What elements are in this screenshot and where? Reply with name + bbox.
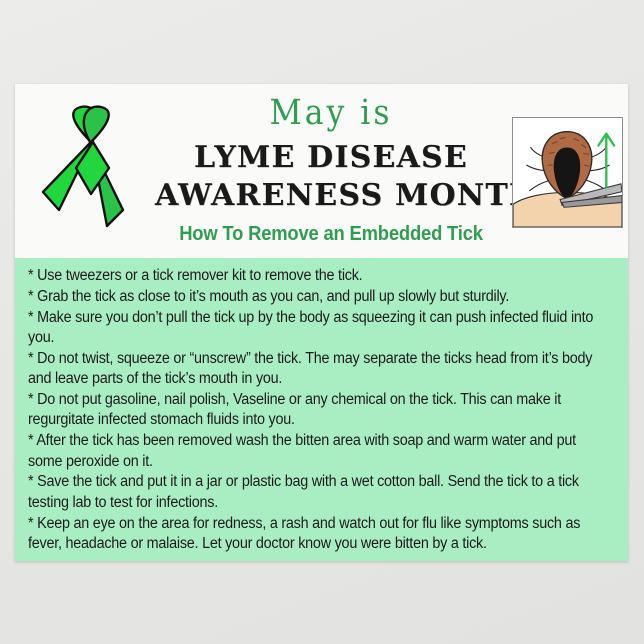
instruction-item: * Keep an eye on the area for redness, a… — [28, 514, 613, 555]
page-title-line-2: AWARENESS MONTH — [155, 177, 507, 215]
instruction-item: * Grab the tick as close to it’s mouth a… — [28, 287, 613, 307]
instructions-panel: * Use tweezers or a tick remover kit to … — [15, 258, 628, 561]
page-title-line-1: LYME DISEASE — [155, 139, 507, 177]
instruction-item: * Make sure you don’t pull the tick up b… — [28, 308, 613, 349]
awareness-ribbon-icon — [33, 102, 149, 244]
tick-removal-tweezers-illustration — [512, 117, 623, 228]
instruction-item: * Save the tick and put it in a jar or p… — [28, 472, 613, 513]
instruction-item: * Use tweezers or a tick remover kit to … — [28, 266, 613, 286]
lyme-awareness-flyer: May is LYME DISEASE AWARENESS MONTH How … — [15, 84, 628, 561]
title-block: May is LYME DISEASE AWARENESS MONTH — [155, 88, 507, 215]
instruction-item: * Do not twist, squeeze or “unscrew” the… — [28, 349, 613, 390]
flyer-header: May is LYME DISEASE AWARENESS MONTH How … — [15, 84, 628, 258]
page-subtitle: How To Remove an Embedded Tick — [169, 223, 493, 246]
instruction-item: * After the tick has been removed wash t… — [28, 431, 613, 472]
eyebrow-text: May is — [155, 94, 507, 133]
instruction-item: * Do not put gasoline, nail polish, Vase… — [28, 390, 613, 431]
